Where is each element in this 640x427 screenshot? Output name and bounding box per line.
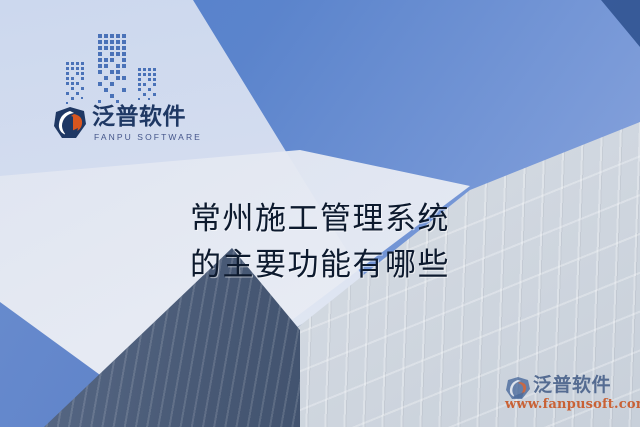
page-title: 常州施工管理系统 的主要功能有哪些 [0,196,640,288]
watermark-url: www.fanpusoft.com [505,397,640,412]
watermark-cn: 泛普软件 [533,374,611,396]
pixel-skyline-icon [64,32,170,110]
page-title-line-1: 常州施工管理系统 [0,196,640,242]
brand-logo-cn: 泛普软件 [92,104,186,130]
page-title-line-2: 的主要功能有哪些 [0,242,640,288]
promo-banner: 泛普软件 FANPU SOFTWARE 常州施工管理系统 的主要功能有哪些 泛普… [0,0,640,427]
watermark: 泛普软件 www.fanpusoft.com [505,374,635,418]
brand-logo-en: FANPU SOFTWARE [94,132,202,142]
fanpu-logo-icon [52,106,88,140]
brand-logo: 泛普软件 FANPU SOFTWARE [52,104,180,148]
